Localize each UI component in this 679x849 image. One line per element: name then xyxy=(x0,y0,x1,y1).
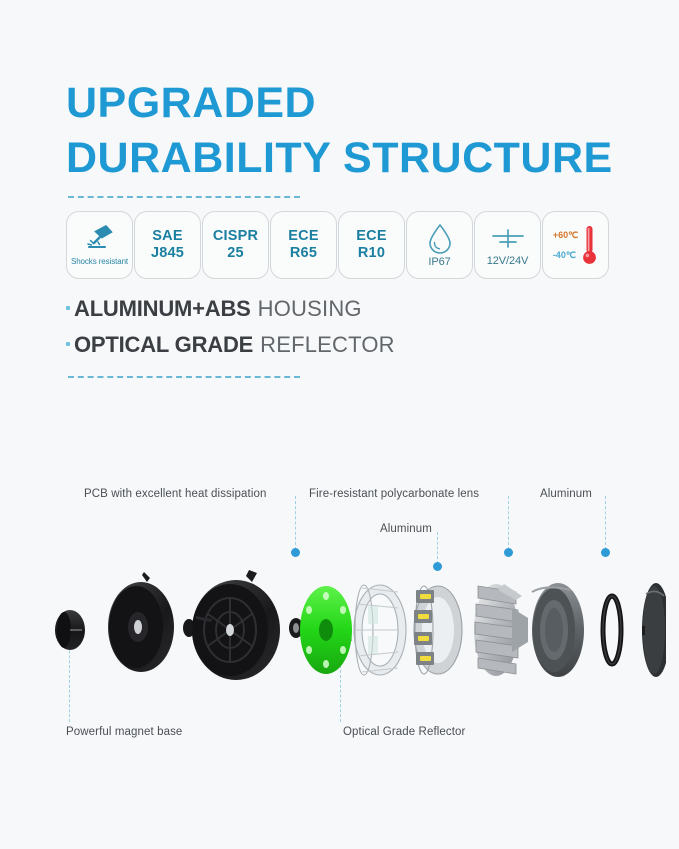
badge-text-bottom: R10 xyxy=(358,245,385,262)
callout-label-aluminum-housing: Aluminum xyxy=(540,488,592,500)
temp-high-label: +60℃ xyxy=(553,230,578,241)
callout-label-reflector: Optical Grade Reflector xyxy=(343,726,465,738)
badge-ip67: IP67 xyxy=(406,211,473,279)
leader-line-aluminum-heatsink xyxy=(437,532,438,564)
badge-text-top: CISPR xyxy=(213,228,258,245)
leader-dot-pcb xyxy=(291,548,300,557)
badge-text-top: ECE xyxy=(356,228,386,245)
callout-label-magnet-base: Powerful magnet base xyxy=(66,726,182,738)
exploded-view-diagram: PCB with excellent heat dissipation Fire… xyxy=(0,440,679,770)
callout-label-pcb: PCB with excellent heat dissipation xyxy=(84,488,267,500)
badge-text-bottom: R65 xyxy=(290,245,317,262)
leader-line-aluminum-housing xyxy=(605,496,606,550)
leader-line-pcb xyxy=(295,496,296,550)
title-line-2: DURABILITY STRUCTURE xyxy=(66,131,626,186)
leader-dot-lens xyxy=(504,548,513,557)
feature-row-housing: ALUMINUM+ABS HOUSING xyxy=(66,296,395,332)
badge-cispr-25: CISPR 25 xyxy=(202,211,269,279)
feature-light: REFLECTOR xyxy=(260,332,395,358)
title-line-1: UPGRADED xyxy=(66,76,626,131)
temp-low-label: -40℃ xyxy=(553,250,578,261)
badge-voltage: 12V/24V xyxy=(474,211,541,279)
infographic-page: UPGRADED DURABILITY STRUCTURE Sh xyxy=(0,0,679,849)
badge-ece-r10: ECE R10 xyxy=(338,211,405,279)
badge-text-bottom: J845 xyxy=(151,245,184,262)
feature-light: HOUSING xyxy=(258,296,362,322)
bullet-icon xyxy=(66,306,70,310)
badge-caption: IP67 xyxy=(428,256,450,268)
leader-line-lens xyxy=(508,496,509,550)
page-title: UPGRADED DURABILITY STRUCTURE xyxy=(66,76,626,186)
badge-text-bottom: 25 xyxy=(227,245,244,262)
badge-ece-r65: ECE R65 xyxy=(270,211,337,279)
bullet-icon xyxy=(66,342,70,346)
badge-text-top: SAE xyxy=(152,228,182,245)
badge-shocks-resistant: Shocks resistant xyxy=(66,211,133,279)
water-drop-icon xyxy=(426,222,454,254)
certification-badge-row: Shocks resistant SAE J845 CISPR 25 ECE R… xyxy=(66,211,609,279)
badge-caption: 12V/24V xyxy=(487,255,529,267)
badge-sae-j845: SAE J845 xyxy=(134,211,201,279)
feature-strong: OPTICAL GRADE xyxy=(74,332,253,358)
feature-list: ALUMINUM+ABS HOUSING OPTICAL GRADE REFLE… xyxy=(66,296,395,368)
leader-dot-aluminum-housing xyxy=(601,548,610,557)
feature-strong: ALUMINUM+ABS xyxy=(74,296,251,322)
divider-top xyxy=(68,196,300,198)
divider-bottom xyxy=(68,376,300,378)
badge-caption: Shocks resistant xyxy=(71,257,128,266)
callout-label-lens: Fire-resistant polycarbonate lens xyxy=(309,488,479,500)
callout-label-aluminum-heatsink: Aluminum xyxy=(380,523,432,535)
feature-row-reflector: OPTICAL GRADE REFLECTOR xyxy=(66,332,395,368)
hammer-icon xyxy=(83,224,117,254)
exploded-parts-graphic xyxy=(46,570,666,680)
battery-dc-icon xyxy=(488,223,528,253)
thermometer-icon xyxy=(581,223,598,267)
badge-temperature-range: +60℃ -40℃ xyxy=(542,211,609,279)
badge-text-top: ECE xyxy=(288,228,318,245)
